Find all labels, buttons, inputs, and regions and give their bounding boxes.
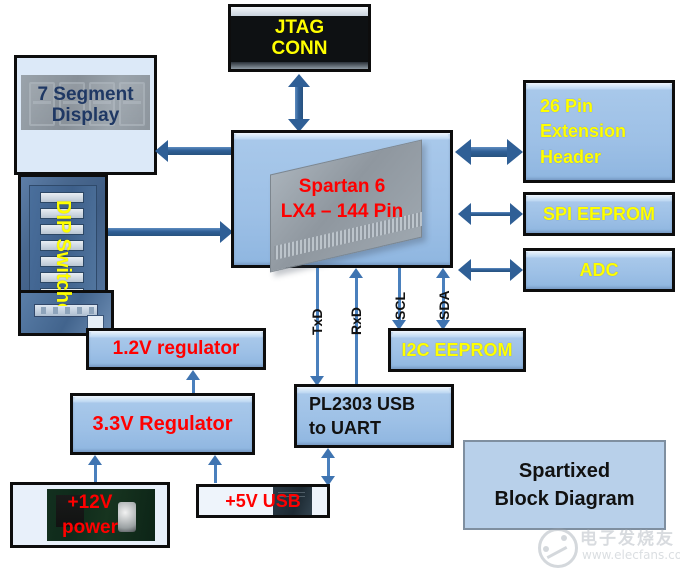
arrow-head-right bbox=[510, 203, 523, 225]
arrow-shaft bbox=[192, 379, 195, 394]
arrow-power12v-reg33 bbox=[92, 455, 99, 483]
block-seven-segment-display[interactable]: 7 Segment Display bbox=[14, 55, 157, 175]
arrow-reg33-reg12 bbox=[190, 370, 197, 394]
extension-header-label-line3: Header bbox=[540, 147, 601, 167]
arrow-shaft bbox=[468, 147, 510, 157]
signal-label-txd: TxD bbox=[309, 309, 325, 335]
arrow-shaft bbox=[108, 228, 223, 236]
legend-title-box: Spartixed Block Diagram bbox=[463, 440, 666, 530]
signal-label-scl: SCL bbox=[392, 292, 408, 320]
seven-segment-label-line2: Display bbox=[17, 105, 154, 126]
block-regulator-3v3[interactable]: 3.3V Regulator bbox=[70, 393, 255, 455]
fpga-label-line1: Spartan 6 bbox=[299, 176, 386, 197]
fpga-label-line2: LX4 – 144 Pin bbox=[281, 201, 404, 222]
regulator-3v3-label: 3.3V Regulator bbox=[92, 413, 232, 435]
regulator-component bbox=[87, 315, 103, 329]
seven-segment-label-line1: 7 Segment bbox=[17, 84, 154, 105]
legend-title-line1: Spartixed bbox=[519, 460, 610, 482]
arrow-head-up bbox=[436, 268, 450, 278]
watermark-dot bbox=[543, 546, 549, 552]
jtag-label-line2: CONN bbox=[231, 38, 368, 59]
block-regulator-1v2[interactable]: 1.2V regulator bbox=[86, 328, 266, 370]
extension-header-label-line1: 26 Pin bbox=[540, 96, 593, 116]
block-power-12v[interactable]: +12V power bbox=[10, 482, 170, 548]
arrow-head-left bbox=[458, 259, 471, 281]
usb-5v-label: +5V USB bbox=[199, 491, 327, 511]
signal-label-sda: SDA bbox=[436, 290, 452, 320]
watermark-logo-icon bbox=[538, 528, 578, 568]
i2c-eeprom-label: I2C EEPROM bbox=[401, 340, 512, 360]
arrow-usb5v-reg33 bbox=[212, 455, 219, 483]
power-12v-label-line2: power bbox=[13, 517, 167, 538]
block-spi-eeprom[interactable]: SPI EEPROM bbox=[523, 192, 675, 236]
arrow-head-right bbox=[510, 259, 523, 281]
spi-eeprom-label: SPI EEPROM bbox=[543, 204, 655, 224]
arrow-shaft bbox=[469, 212, 512, 216]
arrow-shaft bbox=[469, 268, 512, 272]
watermark-dot bbox=[561, 535, 567, 541]
block-usb-5v[interactable]: +5V USB bbox=[196, 484, 330, 518]
arrow-fpga-adc bbox=[458, 264, 523, 276]
arrow-shaft bbox=[214, 464, 217, 483]
arrow-head-right bbox=[507, 139, 523, 165]
adc-label: ADC bbox=[580, 260, 619, 280]
arrow-head-up bbox=[288, 74, 310, 87]
jtag-label-line1: JTAG bbox=[231, 17, 368, 38]
block-jtag-conn[interactable]: JTAG CONN bbox=[228, 4, 371, 72]
block-fpga-spartan6[interactable]: Spartan 6 LX4 – 144 Pin bbox=[231, 130, 453, 268]
pl2303-label-line2: to UART bbox=[309, 418, 381, 438]
block-i2c-eeprom[interactable]: I2C EEPROM bbox=[388, 328, 526, 372]
pl2303-label-line1: PL2303 USB bbox=[309, 394, 415, 414]
regulator-1v2-label: 1.2V regulator bbox=[113, 338, 240, 359]
arrow-head-left bbox=[455, 139, 471, 165]
watermark-url: www.elecfans.com bbox=[582, 548, 680, 562]
arrow-head-left bbox=[458, 203, 471, 225]
arrow-head-up bbox=[88, 455, 102, 465]
arrow-head-up bbox=[186, 370, 200, 380]
extension-header-label-line2: Extension bbox=[540, 121, 626, 141]
block-extension-header[interactable]: 26 Pin Extension Header bbox=[523, 80, 675, 183]
block-dip-switches[interactable]: DIP Switches bbox=[18, 174, 108, 309]
arrow-jtag-fpga bbox=[292, 74, 306, 132]
block-pl2303-usb-to-uart[interactable]: PL2303 USB to UART bbox=[294, 384, 454, 448]
power-12v-label-line1: +12V bbox=[13, 492, 167, 513]
arrow-dip-switches-fpga bbox=[108, 225, 233, 239]
block-adc[interactable]: ADC bbox=[523, 248, 675, 292]
arrow-pl2303-usb5v bbox=[325, 448, 332, 486]
arrow-shaft bbox=[295, 83, 303, 123]
arrow-shaft bbox=[94, 464, 97, 483]
arrow-head-left bbox=[155, 140, 168, 162]
arrow-shaft bbox=[165, 147, 233, 155]
arrow-fpga-spi-eeprom bbox=[458, 208, 523, 220]
legend-title-line2: Block Diagram bbox=[494, 488, 634, 510]
arrow-shaft bbox=[327, 457, 330, 477]
block-diagram-canvas: JTAG CONN 7 Segment Display bbox=[0, 0, 680, 574]
signal-label-rxd: RxD bbox=[348, 307, 364, 335]
arrow-head-up bbox=[208, 455, 222, 465]
dip-switches-label: DIP Switches bbox=[52, 200, 74, 284]
arrow-fpga-seven-segment bbox=[155, 144, 233, 158]
arrow-head-up bbox=[321, 448, 335, 458]
arrow-fpga-extension-header bbox=[455, 143, 523, 161]
arrow-head-up bbox=[349, 268, 363, 278]
